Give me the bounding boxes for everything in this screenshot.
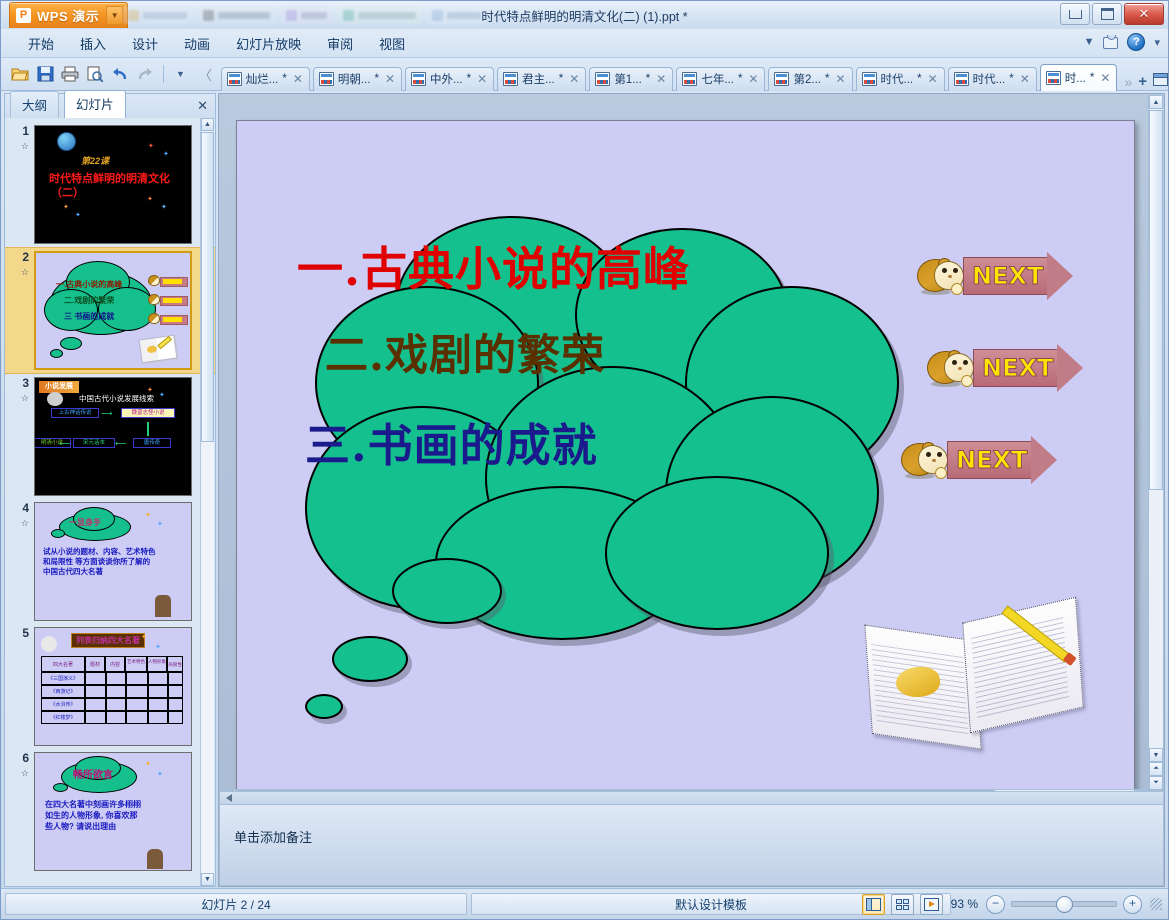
normal-view-icon (866, 898, 881, 911)
modified-marker: * (467, 73, 471, 85)
document-tab-0[interactable]: 灿烂...*✕ (221, 67, 310, 91)
thumb5-row-2: 《水浒传》 (41, 698, 85, 711)
slide-thumbnail-1[interactable]: 1☆ ✦ ✦ ✦ ✦ ✦ ✦ 第22课 时代特点鲜明的明清文化 （二） (5, 122, 215, 247)
slide-number-4: 4☆ (9, 502, 34, 530)
thumb2-line2: 二.戏剧的繁荣 (64, 295, 114, 306)
print-preview-icon[interactable] (84, 63, 107, 86)
document-tab-4[interactable]: 第1...*✕ (589, 67, 673, 91)
thumb3-node-5: 明清小说 (34, 438, 71, 448)
status-bar-right: 93 % − + (862, 894, 1162, 915)
modified-marker: * (917, 73, 921, 85)
arrow-tip-icon (1031, 436, 1057, 484)
thumb3-badge: 小说发展 (39, 381, 79, 393)
status-bar: 幻灯片 2 / 24 默认设计模板 93 % − + (1, 888, 1168, 919)
slide-editor-stage: 一.古典小说的高峰 二.戏剧的繁荣 三.书画的成就 NEXT (218, 93, 1165, 887)
thumb6-line1: 在四大名著中刻画许多栩栩 (45, 799, 141, 810)
hamster-icon (901, 441, 949, 479)
presentation-file-icon (1046, 71, 1061, 85)
thought-bubble-medium[interactable] (332, 636, 408, 682)
minimize-button[interactable] (1060, 3, 1090, 25)
zoom-level-label: 93 % (951, 897, 978, 911)
open-book-image[interactable] (868, 605, 1076, 751)
document-tab-5[interactable]: 七年...*✕ (676, 67, 765, 91)
next-arrow-shape[interactable]: NEXT (963, 258, 1073, 294)
chevron-down-icon[interactable]: ▼ (1084, 36, 1095, 48)
customize-icon[interactable]: ▼ (169, 63, 192, 86)
tab-overflow-icon[interactable]: » (1124, 74, 1132, 90)
thumb5-th-2: 内容 (105, 656, 125, 672)
arrow-tip-icon (1047, 252, 1073, 300)
document-tab-1[interactable]: 明朝...*✕ (313, 67, 402, 91)
modified-marker: * (825, 73, 829, 85)
document-tab-close-icon[interactable]: ✕ (928, 72, 938, 86)
tab-strip-controls: » + (1124, 73, 1168, 91)
thumb4-line3: 中国古代四大名著 (43, 567, 156, 577)
tab-slides[interactable]: 幻灯片 (64, 90, 126, 118)
close-button[interactable]: ✕ (1124, 3, 1164, 25)
document-tab-close-icon[interactable]: ✕ (656, 72, 666, 86)
document-tab-close-icon[interactable]: ✕ (1020, 72, 1030, 86)
document-tab-close-icon[interactable]: ✕ (835, 72, 845, 86)
resize-grip-icon[interactable] (1150, 898, 1162, 910)
thumb3-avatar (47, 392, 63, 406)
modified-marker: * (738, 73, 742, 85)
thumb3-node-2: 魏晋志怪小说 (121, 408, 175, 418)
presentation-file-icon (595, 72, 610, 86)
modified-marker: * (282, 73, 286, 85)
thumb5-th-3: 艺术特色 (125, 656, 147, 672)
next-button-2[interactable]: NEXT (927, 349, 1083, 387)
thought-bubble-small[interactable] (305, 694, 343, 719)
modified-marker: * (1090, 72, 1094, 84)
document-tab-label: 灿烂... (246, 71, 279, 87)
document-tab-9-active[interactable]: 时...*✕ (1040, 64, 1118, 91)
thumb4-line2: 和局限性 等方面谈谈你所了解的 (43, 557, 156, 567)
menu-item-view[interactable]: 视图 (366, 31, 418, 56)
thumb4-person-icon (155, 595, 171, 617)
next-button-1[interactable]: NEXT (917, 257, 1073, 295)
zoom-in-button[interactable]: + (1123, 895, 1142, 914)
panel-scroll-thumb[interactable] (201, 132, 214, 442)
undo-icon[interactable] (108, 63, 131, 86)
document-tab-label: 时代... (973, 71, 1006, 87)
panel-tab-strip: 大纲 幻灯片 ✕ (5, 94, 215, 119)
slide-thumbnail-3[interactable]: 3☆ 小说发展 中国古代小说发展线索 ✦ ✦ 上古神话传说 ⟶ 魏晋志怪小说 唐… (5, 374, 215, 499)
menu-item-design[interactable]: 设计 (119, 31, 171, 56)
document-tab-close-icon[interactable]: ✕ (385, 72, 395, 86)
slide-number-3: 3☆ (9, 377, 34, 405)
thumb6-line3: 些人物? 请说出理由 (45, 821, 141, 832)
thumb5-th-5: 局限性 (167, 656, 183, 672)
notes-splitter[interactable] (220, 791, 1163, 805)
slideshow-button[interactable] (920, 894, 943, 915)
document-tab-strip: 灿烂...*✕ 明朝...*✕ 中外...*✕ 君主...*✕ 第1...*✕ … (221, 58, 1168, 91)
hamster-icon (927, 349, 975, 387)
minimize-icon (1069, 10, 1082, 19)
splitter-handle-icon[interactable] (226, 794, 232, 802)
slide-thumbnail-2[interactable]: 2☆ 一.古典小说的高峰 二.戏剧的繁荣 三 书画的成就 (5, 247, 215, 374)
thumb6-person-icon (147, 849, 163, 869)
presentation-file-icon (227, 72, 242, 86)
thumb5-row-3: 《红楼梦》 (41, 711, 85, 724)
restore-icon (1101, 8, 1114, 20)
menu-item-insert[interactable]: 插入 (67, 31, 119, 56)
slide-line-3: 三.书画的成就 (305, 409, 877, 474)
thumb3-arrow-down (147, 422, 149, 436)
slide-number-1: 1☆ (9, 125, 34, 153)
document-tab-3[interactable]: 君主...*✕ (497, 67, 586, 91)
document-tab-label: 时... (1065, 70, 1086, 86)
stage-vertical-scrollbar[interactable]: ▲ ▼ ⏶ ⏷ (1148, 95, 1163, 790)
modified-marker: * (559, 73, 563, 85)
zoom-out-button[interactable]: − (986, 895, 1005, 914)
slide-line-2: 二.戏剧的繁荣 (325, 321, 877, 383)
slide-thumbnail-4[interactable]: 4☆ 一显身手 ✦ ✦ 试从小说的题材、内容、艺术特色 和局限性 等方面谈谈你所… (5, 499, 215, 624)
modified-marker: * (1009, 73, 1013, 85)
globe-icon (57, 132, 76, 151)
document-tab-close-icon[interactable]: ✕ (569, 72, 579, 86)
slide-sorter-icon (896, 899, 909, 910)
slide-number-5: 5 (9, 627, 34, 640)
window-controls: ✕ (1060, 3, 1164, 25)
thumb4-cloud-label: 一显身手 (69, 517, 101, 528)
slide-number-2: 2☆ (9, 251, 34, 279)
menu-bar: 开始 插入 设计 动画 幻灯片放映 审阅 视图 ▼ ? ▾ (1, 29, 1168, 58)
thumb5-avatar (41, 636, 57, 652)
slide-sorter-button[interactable] (891, 894, 914, 915)
tab-outline[interactable]: 大纲 (10, 91, 59, 118)
quick-access-toolbar: ▼ 〈 灿烂...*✕ 明朝...*✕ 中外...*✕ 君主...*✕ 第1..… (1, 58, 1168, 91)
wps-presentation-window: P WPS 演示 ▼ 时代特点鲜明的明清文化(二) (1).ppt * ✕ 开始… (0, 0, 1169, 920)
slide-thumb-canvas-4: 一显身手 ✦ ✦ 试从小说的题材、内容、艺术特色 和局限性 等方面谈谈你所了解的… (34, 502, 192, 621)
slide-line-1: 一.古典小说的高峰 (297, 233, 877, 299)
thumb5-title: 列表归纳四大名著 (71, 633, 145, 648)
next-label: NEXT (956, 446, 1027, 474)
slide-thumbnail-list[interactable]: 1☆ ✦ ✦ ✦ ✦ ✦ ✦ 第22课 时代特点鲜明的明清文化 （二） 2☆ (5, 118, 215, 886)
stage-scroll-down-button[interactable]: ▼ (1149, 748, 1163, 762)
slideshow-icon (924, 898, 939, 911)
slide-number-6: 6☆ (9, 752, 34, 780)
document-tab-6[interactable]: 第2...*✕ (768, 67, 852, 91)
stage-vscroll-thumb[interactable] (1149, 110, 1163, 490)
slide-position-indicator: 幻灯片 2 / 24 (5, 893, 467, 915)
skin-shirt-icon[interactable] (1103, 35, 1118, 49)
thumb5-row-1: 《西游记》 (41, 685, 85, 698)
title-bar: P WPS 演示 ▼ 时代特点鲜明的明清文化(二) (1).ppt * ✕ (1, 1, 1168, 30)
presentation-file-icon (954, 72, 969, 86)
document-tab-label: 第1... (614, 71, 641, 87)
modified-marker: * (646, 73, 650, 85)
thumb3-node-1: 上古神话传说 (51, 408, 99, 418)
help-icon[interactable]: ? (1127, 33, 1145, 51)
thumb5-row-0: 《三国演义》 (41, 672, 85, 685)
restore-button[interactable] (1092, 3, 1122, 25)
slide-navigator-panel: 大纲 幻灯片 ✕ 1☆ ✦ ✦ ✦ ✦ ✦ ✦ 第22课 时代特点鲜明的明清文化… (4, 93, 216, 887)
thumb5-th-0: 四大名著 (41, 656, 85, 672)
slide-thumb-canvas-2: 一.古典小说的高峰 二.戏剧的繁荣 三 书画的成就 (34, 251, 192, 370)
thumb4-line1: 试从小说的题材、内容、艺术特色 (43, 547, 156, 557)
thumb6-cloud-label: 畅所欲言 (73, 766, 113, 781)
thumb5-th-1: 题材 (85, 656, 105, 672)
slide-thumb-canvas-3: 小说发展 中国古代小说发展线索 ✦ ✦ 上古神话传说 ⟶ 魏晋志怪小说 唐传奇 … (34, 377, 192, 496)
thumb1-lesson-label: 第22课 (81, 154, 109, 167)
tab-list-icon[interactable] (1153, 73, 1168, 91)
zoom-slider[interactable] (1011, 901, 1117, 907)
menu-bar-right-tools: ▼ ? ▾ (1084, 33, 1160, 51)
thumb1-subtitle: （二） (51, 184, 84, 200)
stage-scroll-up-button[interactable]: ▲ (1149, 95, 1163, 109)
panel-scrollbar[interactable]: ▲ ▼ (200, 118, 214, 886)
presentation-file-icon (411, 72, 426, 86)
document-tab-close-icon[interactable]: ✕ (293, 72, 303, 86)
slide-body-text[interactable]: 一.古典小说的高峰 二.戏剧的繁荣 三.书画的成就 (297, 233, 877, 474)
notes-placeholder[interactable]: 单击添加备注 (234, 827, 312, 846)
modified-marker: * (374, 73, 378, 85)
document-tab-label: 时代... (881, 71, 914, 87)
document-tab-label: 君主... (522, 71, 555, 87)
document-tab-7[interactable]: 时代...*✕ (856, 67, 945, 91)
slide-thumbnail-6[interactable]: 6☆ 畅所欲言 ✦ ✦ 在四大名著中刻画许多栩栩 如生的人物形象, 你喜欢那 些… (5, 749, 215, 874)
print-icon[interactable] (59, 63, 82, 86)
window-title: 时代特点鲜明的明清文化(二) (1).ppt * (1, 6, 1168, 25)
thumb2-line1: 一.古典小说的高峰 (56, 279, 122, 290)
panel-close-icon[interactable]: ✕ (197, 98, 208, 114)
menu-item-review[interactable]: 审阅 (314, 31, 366, 56)
zoom-slider-knob[interactable] (1056, 896, 1073, 913)
redo-icon[interactable] (133, 63, 156, 86)
document-tab-close-icon[interactable]: ✕ (748, 72, 758, 86)
next-label: NEXT (982, 354, 1053, 382)
normal-view-button[interactable] (862, 894, 885, 915)
presentation-file-icon (682, 72, 697, 86)
next-slide-button[interactable]: ⏷ (1149, 776, 1163, 790)
document-tab-close-icon[interactable]: ✕ (477, 72, 487, 86)
thumb3-node-4: 宋元话本 (73, 438, 115, 448)
panel-scroll-up-button[interactable]: ▲ (201, 118, 214, 131)
presentation-file-icon (774, 72, 789, 86)
presentation-file-icon (862, 72, 877, 86)
menu-item-animation[interactable]: 动画 (171, 31, 223, 56)
notes-pane[interactable]: 单击添加备注 (220, 804, 1163, 885)
slide-thumb-canvas-6: 畅所欲言 ✦ ✦ 在四大名著中刻画许多栩栩 如生的人物形象, 你喜欢那 些人物?… (34, 752, 192, 871)
next-button-3[interactable]: NEXT (901, 441, 1057, 479)
document-tab-close-icon[interactable]: ✕ (1100, 71, 1110, 85)
document-tab-label: 明朝... (338, 71, 371, 87)
document-tab-label: 七年... (701, 71, 734, 87)
thumb3-title: 中国古代小说发展线索 (79, 393, 154, 404)
document-tab-2[interactable]: 中外...*✕ (405, 67, 494, 91)
slide-thumb-canvas-1: ✦ ✦ ✦ ✦ ✦ ✦ 第22课 时代特点鲜明的明清文化 （二） (34, 125, 192, 244)
panel-scroll-down-button[interactable]: ▼ (201, 873, 214, 886)
toolbar-divider (163, 65, 164, 83)
presentation-file-icon (319, 72, 334, 86)
thumb2-line3: 三 书画的成就 (64, 311, 114, 322)
open-icon[interactable] (9, 63, 32, 86)
dropdown-caret-icon[interactable]: ▾ (1154, 36, 1160, 49)
thumb3-node-3: 唐传奇 (133, 438, 171, 448)
next-arrow-shape[interactable]: NEXT (947, 442, 1057, 478)
new-tab-icon[interactable]: + (1138, 73, 1147, 90)
next-arrow-shape[interactable]: NEXT (973, 350, 1083, 386)
thumb6-line2: 如生的人物形象, 你喜欢那 (45, 810, 141, 821)
thumb5-th-4: 人物形象 (147, 656, 167, 672)
menu-item-slideshow[interactable]: 幻灯片放映 (223, 31, 314, 56)
previous-slide-button[interactable]: ⏶ (1149, 762, 1163, 776)
arrow-tip-icon (1057, 344, 1083, 392)
collapse-left-icon[interactable]: 〈 (194, 63, 217, 86)
hamster-icon (917, 257, 965, 295)
document-tab-label: 中外... (430, 71, 463, 87)
next-label: NEXT (972, 262, 1043, 290)
slide-thumb-canvas-5: 列表归纳四大名著 ✦ ✦ 四大名著 题材 内容 艺术特色 人物形象 局限性 《三… (34, 627, 192, 746)
document-tab-8[interactable]: 时代...*✕ (948, 67, 1037, 91)
thought-bubble-large[interactable] (392, 558, 502, 624)
save-icon[interactable] (34, 63, 57, 86)
close-icon: ✕ (1139, 6, 1150, 22)
document-tab-label: 第2... (793, 71, 820, 87)
current-slide-wrapper[interactable]: 一.古典小说的高峰 二.戏剧的繁荣 三.书画的成就 NEXT (236, 120, 1135, 804)
slide-thumbnail-5[interactable]: 5 列表归纳四大名著 ✦ ✦ 四大名著 题材 内容 艺术特色 人物形象 局限性 … (5, 624, 215, 749)
presentation-file-icon (503, 72, 518, 86)
slide-canvas[interactable]: 一.古典小说的高峰 二.戏剧的繁荣 三.书画的成就 NEXT (236, 120, 1135, 804)
menu-item-start[interactable]: 开始 (15, 31, 67, 56)
